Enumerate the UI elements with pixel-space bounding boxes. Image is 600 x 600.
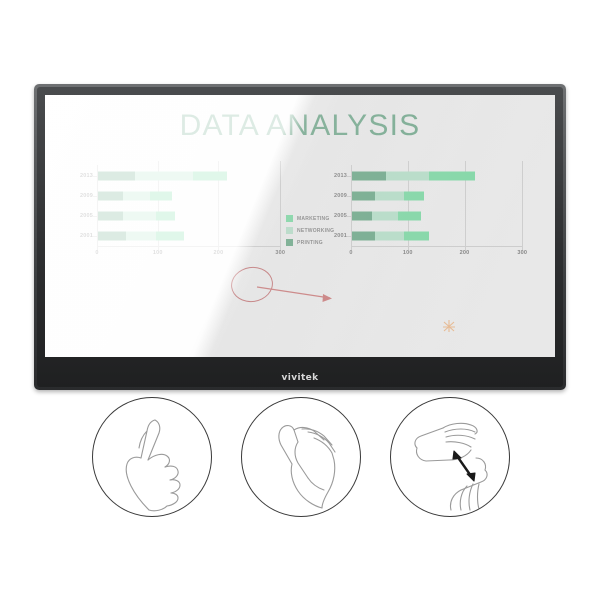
goals-handwriting-note: GOALS [302,356,357,357]
y-tick [93,236,97,237]
bar-segment-networking [386,172,429,181]
bar-segment-networking [372,211,398,220]
y-tick [93,196,97,197]
bar-segment-printing [98,192,123,201]
red-circle-annotation-icon [229,264,275,305]
bar-segment-marketing [404,231,430,240]
bar-row[interactable] [98,192,172,201]
bar-segment-printing [98,172,135,181]
product-image-canvas: DATA ANALYSIS 2013 2009 [0,0,600,600]
y-tick [347,176,351,177]
gesture-two-hand-pinch-zoom-icon [390,397,510,517]
y-axis-label: 2013 [334,173,347,179]
gesture-palm-swipe-icon [241,397,361,517]
bar-segment-printing [98,231,126,240]
y-tick [347,236,351,237]
chart-left-x-axis [97,246,281,247]
display-screen[interactable]: DATA ANALYSIS 2013 2009 [45,95,555,357]
bar-row[interactable] [98,231,184,240]
red-arrow-head-icon [323,294,333,302]
x-axis-label: 0 [349,250,352,256]
vivitek-logo: vivitek [281,373,318,383]
legend-label: NETWORKING [297,228,334,234]
bar-segment-marketing [404,192,424,201]
bar-segment-marketing [156,231,184,240]
chart-right-x-axis [351,246,523,247]
bar-row[interactable] [98,211,175,220]
presentation-slide: DATA ANALYSIS 2013 2009 [45,95,555,357]
gesture-single-finger-tap-icon [92,397,212,517]
legend-swatch-icon [286,215,293,222]
y-tick [93,216,97,217]
legend-label: MARKETING [297,216,330,222]
bar-segment-networking [123,192,151,201]
orange-star-annotation-icon [443,320,455,332]
legend-item-printing: PRINTING [286,239,334,246]
gridline [522,161,523,247]
bar-segment-marketing [429,172,475,181]
x-axis-label: 100 [153,250,163,256]
y-tick [347,216,351,217]
chart-legend: MARKETING NETWORKING PRINTING [286,215,334,251]
bar-row[interactable] [352,231,429,240]
y-axis-label: 2001 [334,233,347,239]
legend-label: PRINTING [297,240,323,246]
legend-item-networking: NETWORKING [286,227,334,234]
bar-row[interactable] [98,172,227,181]
bar-segment-marketing [193,172,227,181]
bar-segment-networking [375,231,404,240]
chart-left-plot: 2013 2009 2005 2001 [97,165,281,247]
x-axis-label: 100 [403,250,413,256]
gridline [280,161,281,247]
y-tick [93,176,97,177]
x-axis-label: 200 [460,250,470,256]
x-axis-label: 0 [95,250,98,256]
y-axis-label: 2005 [80,213,93,219]
chart-right-plot: 2013 2009 2005 2001 [351,165,523,247]
y-axis-label: 2005 [334,213,347,219]
bar-segment-printing [352,211,372,220]
y-axis-label: 2009 [334,193,347,199]
y-tick [347,196,351,197]
bar-segment-printing [352,192,375,201]
chart-left[interactable]: 2013 2009 2005 2001 [69,165,281,261]
x-axis-label: 300 [517,250,527,256]
bar-segment-marketing [398,211,421,220]
interactive-display-device: DATA ANALYSIS 2013 2009 [34,84,566,390]
legend-item-marketing: MARKETING [286,215,334,222]
gesture-icon-row [92,396,510,518]
y-axis-label: 2009 [80,193,93,199]
brand-strip: vivitek [45,369,555,387]
bar-segment-marketing [156,211,174,220]
bar-row[interactable] [352,192,424,201]
legend-swatch-icon [286,227,293,234]
page-title: DATA ANALYSIS [45,109,555,143]
bar-segment-networking [126,231,157,240]
bar-segment-networking [135,172,193,181]
bar-segment-printing [352,231,375,240]
bar-segment-networking [123,211,157,220]
x-axis-label: 200 [214,250,224,256]
y-axis-label: 2001 [80,233,93,239]
legend-swatch-icon [286,239,293,246]
bar-segment-printing [98,211,123,220]
chart-right[interactable]: 2013 2009 2005 2001 [323,165,523,261]
bar-row[interactable] [352,172,475,181]
bar-segment-marketing [150,192,171,201]
bar-segment-networking [375,192,404,201]
bar-segment-printing [352,172,386,181]
y-axis-label: 2013 [80,173,93,179]
x-axis-label: 300 [275,250,285,256]
bar-row[interactable] [352,211,421,220]
